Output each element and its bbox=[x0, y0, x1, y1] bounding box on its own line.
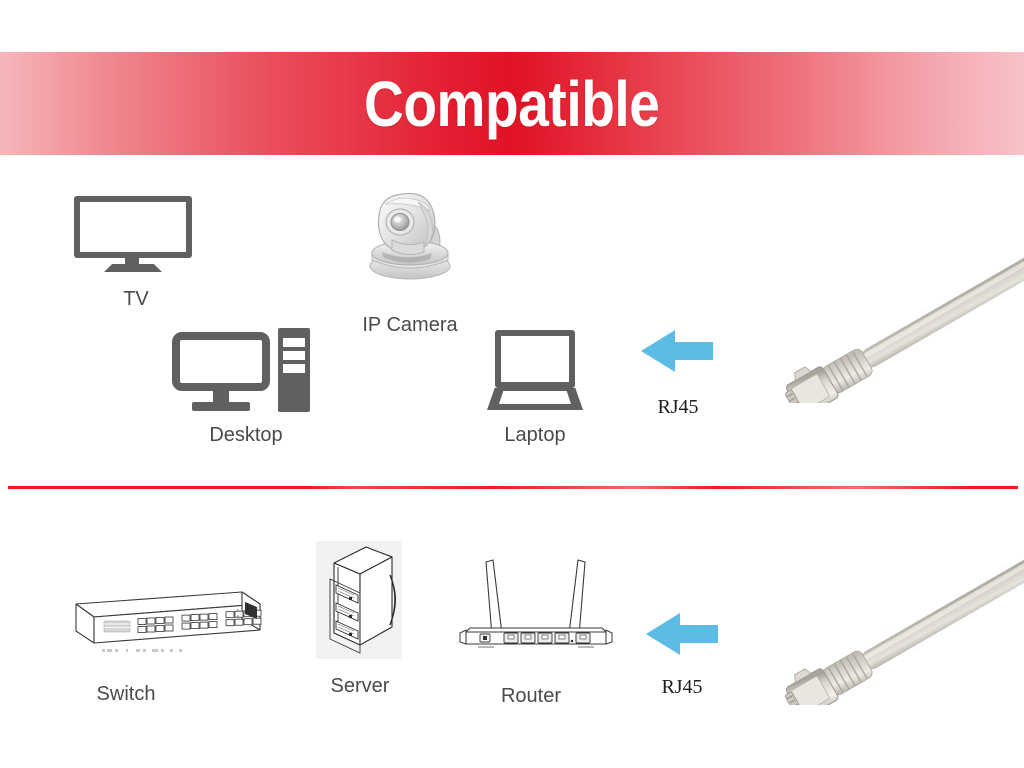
page-title: Compatible bbox=[364, 72, 659, 136]
wireless-router-icon bbox=[456, 548, 616, 668]
desktop-monitor bbox=[172, 332, 270, 391]
slide-canvas: Compatible TV bbox=[0, 0, 1024, 768]
left-arrow-icon-bottom bbox=[646, 613, 718, 655]
desktop-monitor-neck bbox=[213, 391, 229, 402]
server-rack-icon bbox=[316, 541, 406, 661]
ethernet-patch-cable-top bbox=[780, 238, 1024, 403]
section-divider bbox=[8, 486, 1018, 489]
laptop-screen bbox=[495, 330, 575, 388]
tv-base bbox=[104, 264, 162, 272]
tv-screen bbox=[74, 196, 192, 258]
device-label-laptop: Laptop bbox=[470, 424, 600, 447]
connector-label-rj45-top: RJ45 bbox=[628, 396, 728, 419]
desktop-tower bbox=[278, 328, 310, 412]
ethernet-patch-cable-bottom bbox=[780, 540, 1024, 705]
header-banner: Compatible bbox=[0, 52, 1024, 155]
arrow-head bbox=[641, 330, 675, 372]
tv-icon bbox=[74, 196, 198, 276]
desktop-monitor-base bbox=[192, 402, 250, 411]
arrow-tail bbox=[676, 625, 718, 643]
device-label-desktop: Desktop bbox=[168, 424, 324, 447]
device-label-server: Server bbox=[300, 675, 420, 698]
tower-bay bbox=[283, 351, 305, 360]
device-label-router: Router bbox=[466, 685, 596, 708]
device-label-tv: TV bbox=[74, 288, 198, 311]
connector-label-rj45-bottom: RJ45 bbox=[632, 676, 732, 699]
laptop-keyboard bbox=[499, 391, 571, 404]
tower-bay bbox=[283, 338, 305, 347]
ip-camera-icon bbox=[358, 190, 462, 284]
desktop-computer-icon bbox=[172, 332, 320, 416]
tower-bay bbox=[283, 364, 305, 373]
left-arrow-icon bbox=[641, 330, 713, 372]
laptop-icon bbox=[487, 330, 583, 412]
device-label-switch: Switch bbox=[56, 683, 196, 706]
arrow-tail bbox=[671, 342, 713, 360]
device-label-ip-camera: IP Camera bbox=[340, 314, 480, 337]
arrow-head bbox=[646, 613, 680, 655]
network-switch-icon bbox=[46, 586, 266, 664]
